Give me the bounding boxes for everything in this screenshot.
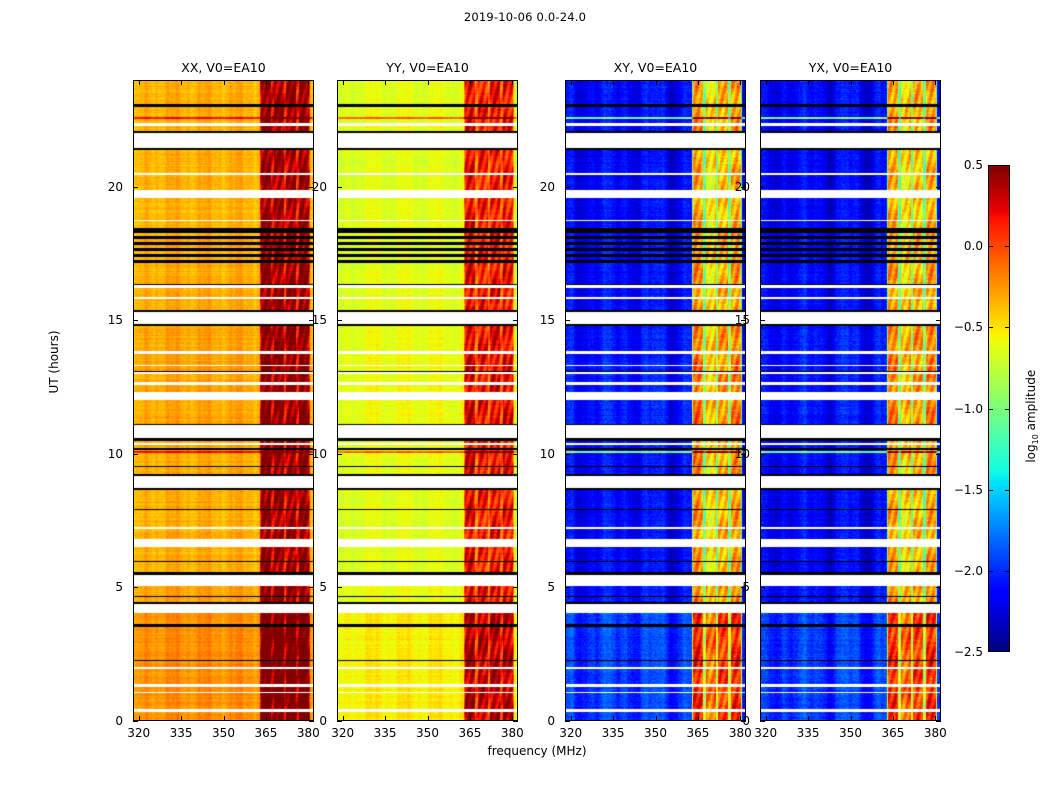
y-tickmark (513, 187, 518, 188)
colorbar-tickmark (1005, 490, 1010, 491)
y-tickmark (936, 721, 941, 722)
y-tickmark (760, 721, 765, 722)
x-tickmark (698, 80, 699, 85)
x-tickmark (343, 716, 344, 721)
x-tickmark (266, 80, 267, 85)
y-tick-labels-yy: 05101520 (293, 80, 333, 721)
heatmap-image-yy (338, 81, 517, 720)
colorbar-tickmark (1005, 246, 1010, 247)
colorbar-tick-0: −2.5 (954, 645, 983, 659)
y-tick-0: 0 (547, 714, 555, 728)
x-tick-365: 365 (254, 726, 277, 740)
colorbar-label-text: log (1024, 444, 1038, 462)
x-tickmark (343, 80, 344, 85)
y-tick-20: 20 (108, 180, 123, 194)
x-tickmark (808, 80, 809, 85)
y-tick-10: 10 (540, 447, 555, 461)
x-tickmark (851, 716, 852, 721)
panel-title-yy: YY, V0=EA10 (337, 60, 518, 76)
x-tick-350: 350 (212, 726, 235, 740)
x-tick-365: 365 (881, 726, 904, 740)
figure-canvas: 2019-10-06 0.0-24.0 XX, V0=EA10 YY, V0=E… (0, 0, 1050, 800)
figure-title: 2019-10-06 0.0-24.0 (0, 10, 1050, 24)
colorbar-tickmark (988, 246, 993, 247)
heatmap-image-yx (761, 81, 940, 720)
x-tick-labels-xy: 320335350365380 (565, 726, 746, 742)
y-tickmark (936, 587, 941, 588)
y-tickmark (513, 587, 518, 588)
y-tickmark (565, 187, 570, 188)
y-tick-20: 20 (312, 180, 327, 194)
y-tick-0: 0 (742, 714, 750, 728)
x-tickmark (428, 716, 429, 721)
x-tick-335: 335 (374, 726, 397, 740)
colorbar-label: log10 amplitude (1024, 336, 1040, 496)
colorbar-tick-2: −1.5 (954, 483, 983, 497)
x-tickmark (470, 716, 471, 721)
x-tickmark (428, 80, 429, 85)
x-tick-320: 320 (127, 726, 150, 740)
x-tickmark (571, 716, 572, 721)
x-tick-320: 320 (559, 726, 582, 740)
x-tickmark (698, 716, 699, 721)
colorbar-tick-1: −2.0 (954, 564, 983, 578)
y-tick-15: 15 (735, 313, 750, 327)
y-tickmark (760, 587, 765, 588)
x-tickmark (512, 80, 513, 85)
x-tick-380: 380 (501, 726, 524, 740)
y-tickmark (565, 320, 570, 321)
y-tick-5: 5 (547, 580, 555, 594)
x-tick-335: 335 (170, 726, 193, 740)
x-tickmark (808, 716, 809, 721)
x-tick-365: 365 (686, 726, 709, 740)
x-tickmark (266, 716, 267, 721)
x-tickmark (613, 716, 614, 721)
y-tick-5: 5 (115, 580, 123, 594)
y-tickmark (337, 454, 342, 455)
y-tickmark (936, 454, 941, 455)
x-tickmark (571, 80, 572, 85)
x-tickmark (893, 716, 894, 721)
y-tickmark (936, 320, 941, 321)
y-tick-20: 20 (735, 180, 750, 194)
y-tickmark (133, 587, 138, 588)
y-tick-20: 20 (540, 180, 555, 194)
colorbar-tickmark (988, 490, 993, 491)
y-tickmark (133, 454, 138, 455)
x-tickmark (893, 80, 894, 85)
heatmap-panel-xx (133, 80, 314, 721)
y-axis-label: UT (hours) (47, 302, 61, 422)
y-tick-labels-xx: 05101520 (89, 80, 129, 721)
x-tickmark (224, 716, 225, 721)
x-tick-labels-yx: 320335350365380 (760, 726, 941, 742)
x-tickmark (766, 80, 767, 85)
y-tickmark (133, 320, 138, 321)
x-tick-320: 320 (331, 726, 354, 740)
y-tick-0: 0 (115, 714, 123, 728)
y-tick-10: 10 (312, 447, 327, 461)
y-tick-5: 5 (319, 580, 327, 594)
x-tickmark (224, 80, 225, 85)
y-tickmark (760, 454, 765, 455)
x-tick-labels-xx: 320335350365380 (133, 726, 314, 742)
y-tick-15: 15 (540, 313, 555, 327)
x-tick-320: 320 (754, 726, 777, 740)
x-tickmark (766, 716, 767, 721)
y-tickmark (133, 721, 138, 722)
y-tickmark (133, 187, 138, 188)
x-axis-label: frequency (MHz) (133, 744, 941, 758)
panel-title-yx: YX, V0=EA10 (760, 60, 941, 76)
colorbar-tick-5: 0.0 (964, 239, 983, 253)
y-tick-15: 15 (108, 313, 123, 327)
x-tickmark (656, 716, 657, 721)
y-tickmark (760, 187, 765, 188)
y-tickmark (337, 721, 342, 722)
panel-title-xy: XY, V0=EA10 (565, 60, 746, 76)
x-tick-350: 350 (644, 726, 667, 740)
colorbar-tickmark (988, 571, 993, 572)
y-tick-5: 5 (742, 580, 750, 594)
x-tickmark (470, 80, 471, 85)
y-tick-labels-yx: 05101520 (716, 80, 756, 721)
y-tickmark (565, 721, 570, 722)
colorbar-tickmark (1005, 571, 1010, 572)
colorbar-tick-3: −1.0 (954, 402, 983, 416)
colorbar-tick-labels: −2.5−2.0−1.5−1.0−0.50.00.5 (945, 165, 983, 652)
x-tick-335: 335 (602, 726, 625, 740)
colorbar-tickmark (988, 327, 993, 328)
y-tickmark (565, 454, 570, 455)
y-tickmark (513, 320, 518, 321)
x-tick-380: 380 (297, 726, 320, 740)
x-tickmark (613, 80, 614, 85)
panel-title-xx: XX, V0=EA10 (133, 60, 314, 76)
x-tickmark (139, 716, 140, 721)
x-tick-labels-yy: 320335350365380 (337, 726, 518, 742)
colorbar-tickmark (1005, 409, 1010, 410)
colorbar-tickmark (988, 409, 993, 410)
x-tickmark (385, 716, 386, 721)
heatmap-panel-yx (760, 80, 941, 721)
heatmap-image-xx (134, 81, 313, 720)
x-tickmark (385, 80, 386, 85)
x-tickmark (181, 716, 182, 721)
x-tickmark (851, 80, 852, 85)
x-tick-335: 335 (797, 726, 820, 740)
colorbar-tick-4: −0.5 (954, 320, 983, 334)
heatmap-panel-yy (337, 80, 518, 721)
y-tickmark (337, 320, 342, 321)
x-tickmark (656, 80, 657, 85)
y-tickmark (936, 187, 941, 188)
y-tick-0: 0 (319, 714, 327, 728)
colorbar-tick-6: 0.5 (964, 158, 983, 172)
x-tick-380: 380 (729, 726, 752, 740)
y-tick-10: 10 (735, 447, 750, 461)
x-tickmark (935, 80, 936, 85)
colorbar-tickmark (1005, 327, 1010, 328)
colorbar-label-sub: 10 (1031, 434, 1040, 444)
y-tickmark (565, 587, 570, 588)
x-tick-380: 380 (924, 726, 947, 740)
y-tick-labels-xy: 05101520 (521, 80, 561, 721)
y-tickmark (513, 454, 518, 455)
y-tickmark (513, 721, 518, 722)
colorbar-label-tail: amplitude (1024, 370, 1038, 434)
x-tick-365: 365 (458, 726, 481, 740)
x-tickmark (181, 80, 182, 85)
x-tick-350: 350 (416, 726, 439, 740)
y-tickmark (309, 721, 314, 722)
y-tick-15: 15 (312, 313, 327, 327)
x-tick-350: 350 (839, 726, 862, 740)
x-tickmark (139, 80, 140, 85)
y-tickmark (760, 320, 765, 321)
y-tickmark (337, 587, 342, 588)
y-tickmark (337, 187, 342, 188)
y-tick-10: 10 (108, 447, 123, 461)
